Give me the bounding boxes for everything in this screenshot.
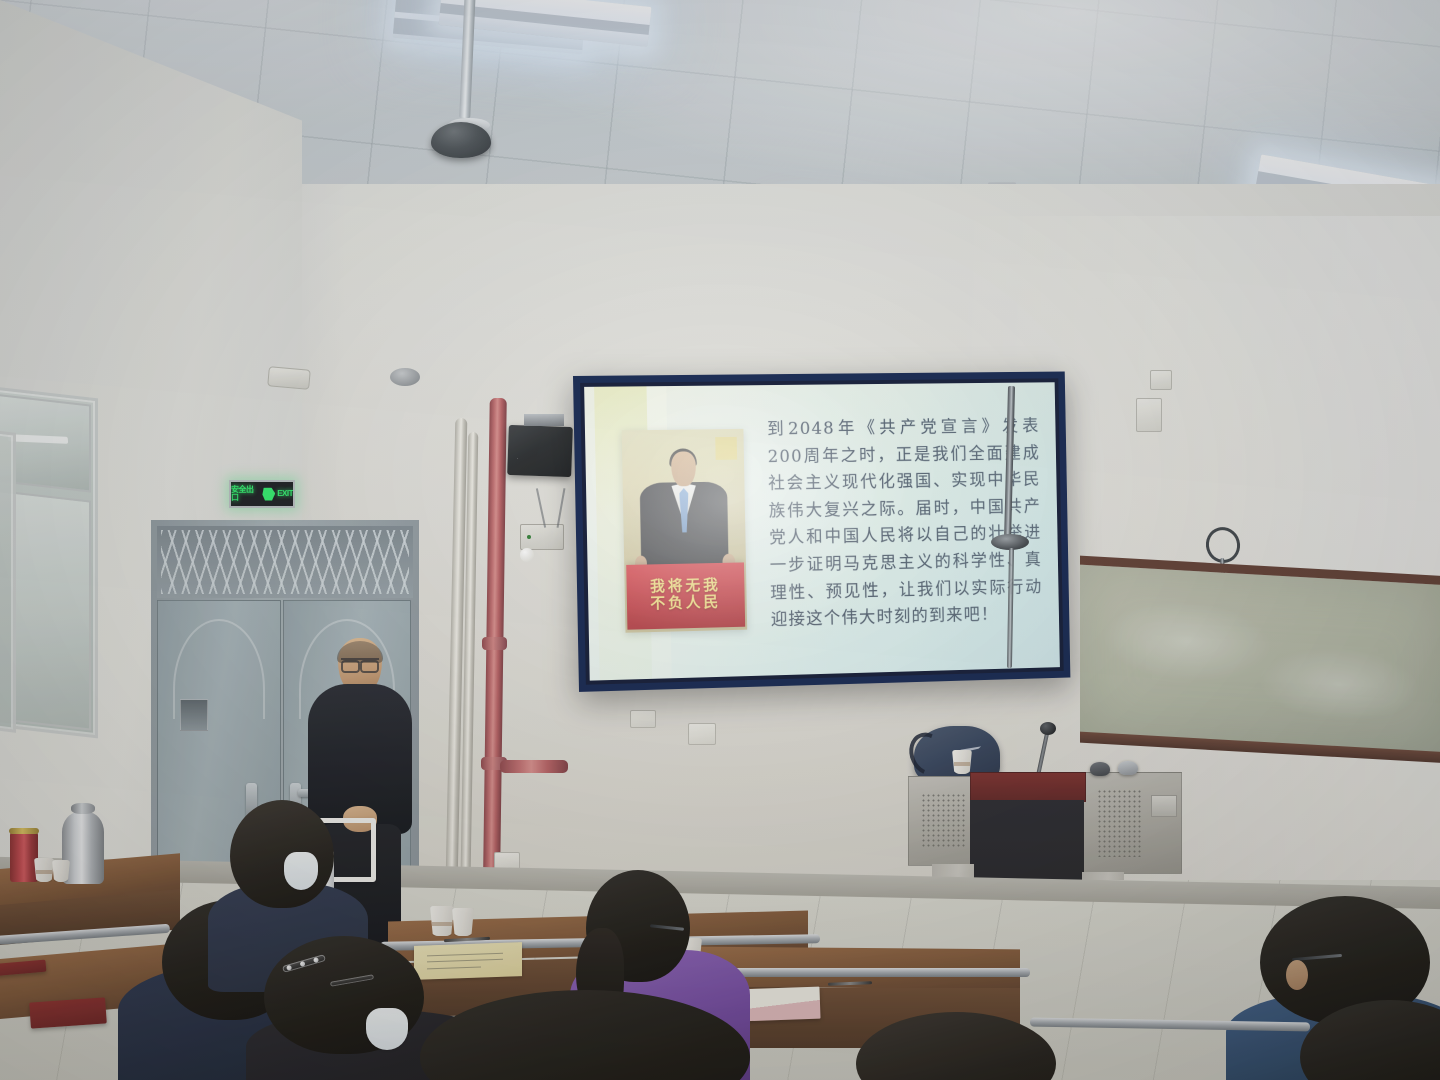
glasses-icon (341, 658, 379, 668)
paper-cup (430, 906, 454, 936)
audience-member-right-rear (856, 1012, 1056, 1080)
paper-cup (952, 750, 972, 774)
door-vision-plate (180, 699, 208, 731)
slogan-line-2: 不负人民 (650, 595, 721, 614)
red-travel-mug (10, 832, 38, 882)
lectern-control-knob[interactable] (1118, 761, 1138, 775)
lectern-speaker-grille (921, 793, 965, 849)
smoke-detector-icon (267, 366, 311, 390)
wall-switch-plate[interactable] (1150, 370, 1172, 390)
grille-pattern (161, 530, 409, 594)
chalk-smudge (1258, 644, 1421, 726)
lectern-port-panel[interactable] (1151, 795, 1177, 817)
lectern-control-knob[interactable] (1090, 762, 1110, 776)
cup-print-ring (36, 870, 53, 874)
face-mask (284, 852, 318, 890)
mug-lid (9, 828, 39, 834)
lectern-top-rail (970, 772, 1086, 802)
audience-member-front (420, 990, 750, 1080)
chalk-smudge (1102, 597, 1272, 686)
portrait-accent-square (716, 437, 737, 459)
booklet (739, 987, 820, 1022)
door-transom-grille (157, 526, 413, 598)
cup-print-ring (954, 762, 971, 766)
wall-control-box[interactable] (520, 524, 564, 550)
emergency-exit-sign: 安全出口 EXIT (229, 480, 295, 508)
audience-head (420, 990, 750, 1080)
exit-sign-chinese-label: 安全出口 (231, 486, 260, 502)
dome-sensor-icon (390, 368, 420, 386)
wall-outlet-plate[interactable] (688, 723, 716, 745)
face-mask (366, 1008, 408, 1050)
lectern-speaker-grille (1097, 789, 1143, 857)
presentation-slide: 我将无我 不负人民 到2048年《共产党宣言》发表200周年之时，正是我们全面建… (584, 382, 1060, 680)
lectern-left-wing (908, 776, 978, 866)
audience-head (1300, 1000, 1440, 1080)
wall-speaker-icon: · (507, 425, 573, 477)
chalkboard (1080, 556, 1440, 759)
sprinkler-branch-pipe (500, 760, 568, 773)
wall-outlet-plate[interactable] (1136, 398, 1162, 432)
ceiling-camera-icon (431, 122, 491, 158)
pipe-joint (482, 637, 507, 650)
paper-cup (52, 860, 70, 882)
audience-member-far-right (1300, 1000, 1440, 1080)
slogan-banner: 我将无我 不负人民 (626, 562, 744, 629)
ear (1286, 960, 1308, 990)
lecture-hall-photo: 安全出口 EXIT · (0, 0, 1440, 1080)
speaker-bracket (524, 414, 564, 426)
projection-screen: 我将无我 不负人民 到2048年《共产党宣言》发表200周年之时，正是我们全面建… (573, 372, 1070, 692)
screen-inner-frame: 我将无我 不负人民 到2048年《共产党宣言》发表200周年之时，正是我们全面建… (580, 378, 1064, 684)
wall-outlet-plate[interactable] (630, 710, 656, 728)
lectern-microphone-head-icon (1040, 722, 1056, 735)
paper-cup (34, 858, 54, 882)
speaker-brand-mark: · (517, 456, 520, 462)
classroom-window (0, 427, 16, 733)
audience-head (856, 1012, 1056, 1080)
running-man-icon (262, 488, 275, 501)
lectern-right-wing (1082, 772, 1182, 874)
audience-head (230, 800, 334, 908)
red-book (29, 997, 107, 1028)
thermos-cap (71, 803, 95, 815)
slide-body-text: 到2048年《共产党宣言》发表200周年之时，正是我们全面建成社会主义现代化强国… (767, 414, 1044, 652)
cup-print-ring (432, 922, 452, 927)
indicator-lamp-icon (520, 548, 534, 562)
exit-sign-english-label: EXIT (277, 490, 293, 498)
portrait-image: 我将无我 不负人民 (621, 429, 747, 633)
status-led-icon (527, 535, 531, 539)
paper-cup (452, 908, 474, 936)
